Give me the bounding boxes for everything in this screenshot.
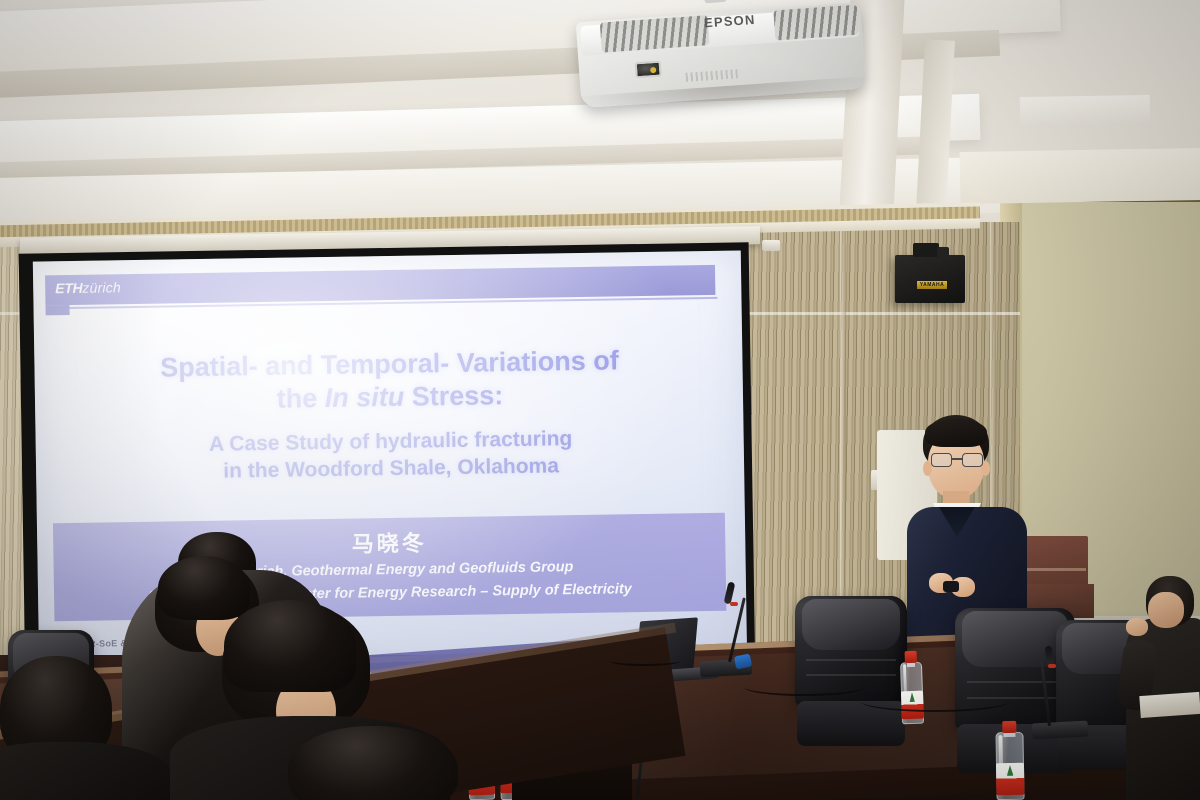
eth-logo-bold: ETH [55,280,82,296]
paper-documents[interactable] [1139,692,1200,718]
wall-speaker: YAMAHA [895,255,965,303]
speaker-arm [937,247,949,257]
chair-crease [806,659,896,661]
presenter-hair-front [925,419,987,447]
seated-attendee-hand [1126,618,1148,636]
audience-hair-front [224,600,356,692]
microphone-base[interactable] [1032,721,1089,740]
ceiling-projector: EPSON [574,0,876,116]
cable [860,690,1010,712]
eth-logo-light: zürich [82,279,121,296]
conference-room-scene: EPSON YAMAHA ETHzürich Spatial- and Temp… [0,0,1200,800]
slide-title-emphasis: In situ [324,382,404,413]
projector-lens [635,61,662,79]
projector-mount [703,0,726,3]
projector-marking [685,69,738,82]
microphone-indicator [1048,664,1056,668]
upper-wall-panel [960,148,1200,204]
presenter-glasses [931,453,983,467]
glasses-bridge [952,458,962,460]
glasses-lens [962,453,983,467]
seated-attendee-face [1148,592,1184,628]
bottle-cap [905,651,917,663]
cable [610,656,680,666]
presentation-clicker[interactable] [943,581,959,592]
chair-crease [967,681,1063,683]
slide-title-line2-post: Stress: [404,380,504,412]
wall-sensor-icon [762,240,780,251]
slide-subtitle: A Case Study of hydraulic fracturing in … [76,423,707,487]
audience-member [288,726,458,800]
ceiling-light-slot [1020,95,1151,127]
eth-zurich-logo: ETHzürich [55,279,121,296]
bottle-label [996,763,1025,795]
speaker-brand-label: YAMAHA [917,281,947,289]
microphone-indicator [730,602,738,606]
speaker-bracket [913,243,939,257]
slide-title: Spatial- and Temporal- Variations of the… [74,343,705,419]
slide-title-line2-pre: the [276,383,324,414]
chair-crease [806,674,896,676]
projector-vent [773,5,859,41]
glasses-lens [931,453,952,467]
chair-headrest [802,599,901,650]
bottle-cap [1002,721,1017,733]
slide-header-notch [45,305,69,315]
pine-tree-icon [1007,765,1014,776]
audience-shoulders [0,742,170,800]
slide-author-name: 马晓冬 [53,521,725,564]
audience-hair [288,726,458,800]
executive-chair[interactable] [795,596,907,746]
cable [744,678,864,696]
water-bottle[interactable] [995,732,1024,800]
